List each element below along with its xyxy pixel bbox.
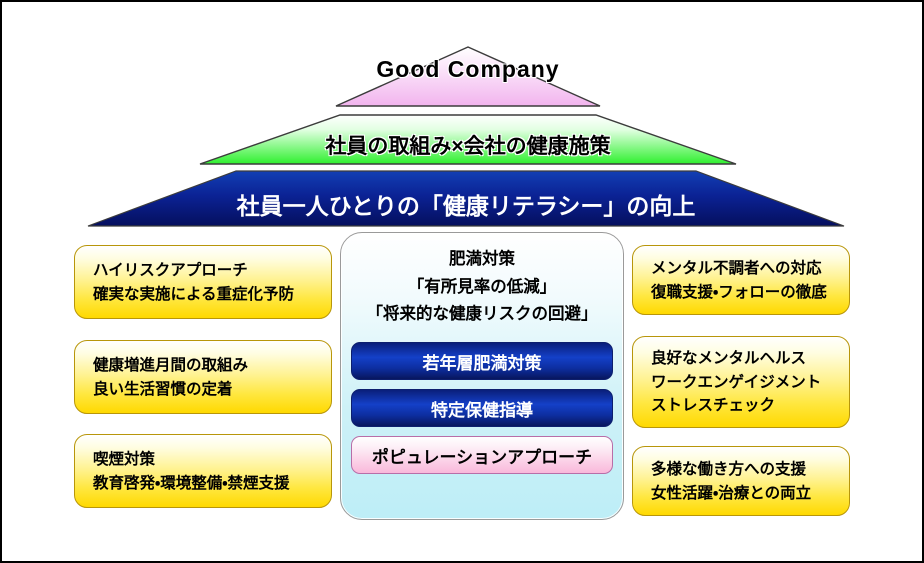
left-box-3-line-1: 喫煙対策 (93, 448, 317, 472)
pyramid-base-label: 社員一人ひとりの「健康リテラシー」の向上 (86, 187, 846, 221)
pyramid-diagram: Good Company 社員の取組み×会社の健康施策 (2, 2, 922, 561)
left-box-health-promotion-month[interactable]: 健康増進月間の取組み 良い生活習慣の定着 (74, 340, 332, 414)
right-box-mental-disorder-response[interactable]: メンタル不調者への対応 復職支援・フォローの徹底 (632, 245, 850, 315)
left-box-1-line-2: 確実な実施による重症化予防 (93, 283, 317, 307)
center-heading-line-1: 肥満対策 (351, 246, 613, 274)
right-box-3-line-2: 女性活躍・治療との両立 (651, 482, 835, 506)
center-heading-line-3: 「将来的な健康リスクの回避」 (351, 301, 613, 329)
left-box-smoking-measures[interactable]: 喫煙対策 教育啓発・環境整備・禁煙支援 (74, 434, 332, 508)
left-box-3-line-2: 教育啓発・環境整備・禁煙支援 (93, 472, 317, 496)
right-box-2-line-1: 良好なメンタルヘルス (651, 347, 835, 371)
button-youth-obesity-measures[interactable]: 若年層肥満対策 (351, 342, 613, 380)
right-box-diverse-work-styles[interactable]: 多様な働き方への支援 女性活躍・治療との両立 (632, 446, 850, 516)
right-box-3-line-1: 多様な働き方への支援 (651, 458, 835, 482)
diagram-frame: Good Company 社員の取組み×会社の健康施策 (0, 0, 924, 563)
center-heading-line-2: 「有所見率の低減」 (351, 274, 613, 302)
center-panel-heading: 肥満対策 「有所見率の低減」 「将来的な健康リスクの回避」 (351, 246, 613, 329)
left-box-2-line-2: 良い生活習慣の定着 (93, 378, 317, 402)
left-box-high-risk-approach[interactable]: ハイリスクアプローチ 確実な実施による重症化予防 (74, 245, 332, 319)
right-box-good-mental-health[interactable]: 良好なメンタルヘルス ワークエンゲイジメント ストレスチェック (632, 336, 850, 428)
left-box-2-line-1: 健康増進月間の取組み (93, 354, 317, 378)
button-specific-health-guidance[interactable]: 特定保健指導 (351, 389, 613, 427)
right-box-1-line-2: 復職支援・フォローの徹底 (651, 281, 835, 305)
right-box-2-line-2: ワークエンゲイジメント (651, 371, 835, 395)
right-box-1-line-1: メンタル不調者への対応 (651, 257, 835, 281)
left-box-1-line-1: ハイリスクアプローチ (93, 259, 317, 283)
right-box-2-line-3: ストレスチェック (651, 394, 835, 418)
pyramid-apex-label: Good Company (334, 56, 602, 83)
pyramid-middle-label: 社員の取組み×会社の健康施策 (198, 130, 738, 160)
center-panel-obesity-measures: 肥満対策 「有所見率の低減」 「将来的な健康リスクの回避」 若年層肥満対策 特定… (340, 232, 624, 520)
button-population-approach[interactable]: ポピュレーションアプローチ (351, 436, 613, 474)
